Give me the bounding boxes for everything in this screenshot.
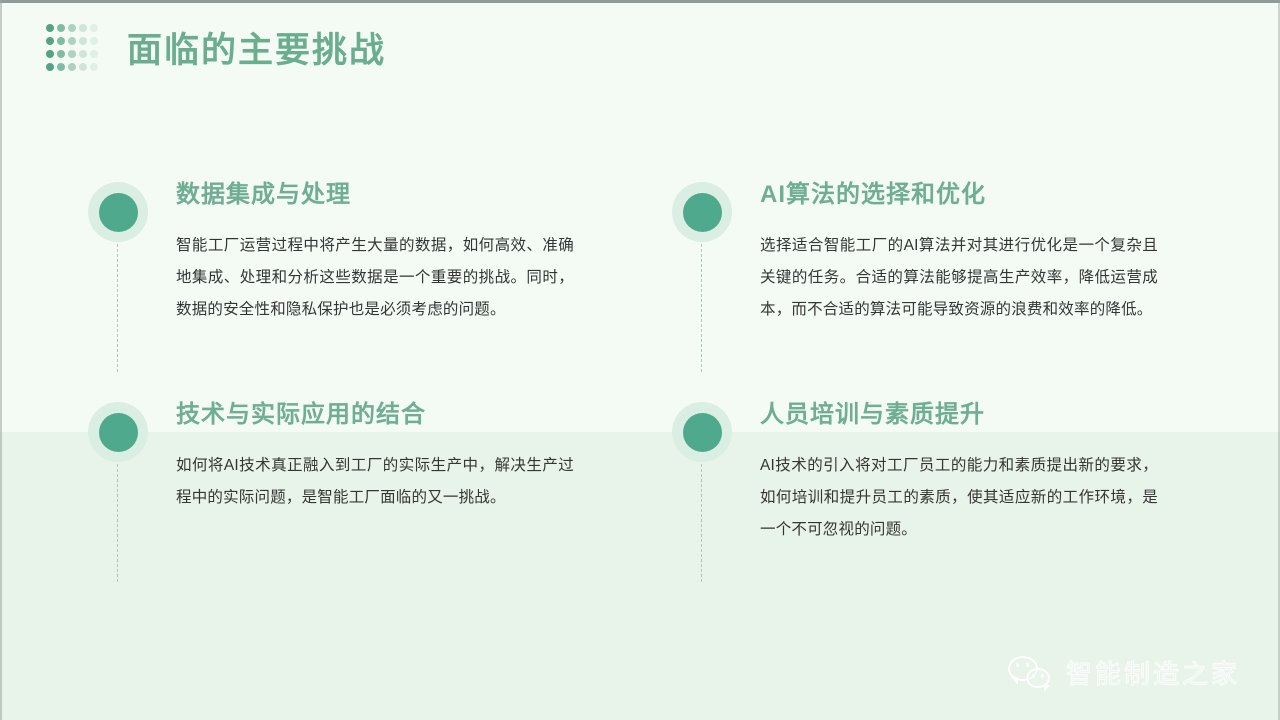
watermark-label: 智能制造之家 xyxy=(1066,661,1240,687)
challenge-text: 如何将AI技术真正融入到工厂的实际生产中，解决生产过程中的实际问题，是智能工厂面… xyxy=(176,450,574,514)
challenge-card-body: 数据集成与处理智能工厂运营过程中将产生大量的数据，如何高效、准确地集成、处理和分… xyxy=(176,182,588,326)
challenge-card-body: 人员培训与素质提升AI技术的引入将对工厂员工的能力和素质提出新的要求，如何培训和… xyxy=(760,402,1172,546)
challenge-card-grid: 数据集成与处理智能工厂运营过程中将产生大量的数据，如何高效、准确地集成、处理和分… xyxy=(0,0,1280,720)
watermark: 智能制造之家 xyxy=(1008,656,1240,692)
challenge-card-body: 技术与实际应用的结合如何将AI技术真正融入到工厂的实际生产中，解决生产过程中的实… xyxy=(176,402,588,514)
challenge-card: 人员培训与素质提升AI技术的引入将对工厂员工的能力和素质提出新的要求，如何培训和… xyxy=(672,402,1172,546)
challenge-title: AI算法的选择和优化 xyxy=(760,182,1172,208)
challenge-card-body: AI算法的选择和优化选择适合智能工厂的AI算法并对其进行优化是一个复杂且关键的任… xyxy=(760,182,1172,326)
challenge-title: 数据集成与处理 xyxy=(176,182,588,208)
wechat-icon xyxy=(1008,656,1054,692)
dashed-connector xyxy=(701,464,702,582)
challenge-card: AI算法的选择和优化选择适合智能工厂的AI算法并对其进行优化是一个复杂且关键的任… xyxy=(672,182,1172,326)
slide-canvas: 面临的主要挑战 数据集成与处理智能工厂运营过程中将产生大量的数据，如何高效、准确… xyxy=(0,0,1280,720)
bullet-marker-icon xyxy=(672,182,732,242)
dashed-connector xyxy=(117,464,118,582)
dashed-connector xyxy=(117,244,118,372)
challenge-title: 人员培训与素质提升 xyxy=(760,402,1172,428)
challenge-text: AI技术的引入将对工厂员工的能力和素质提出新的要求，如何培训和提升员工的素质，使… xyxy=(760,450,1158,545)
dashed-connector xyxy=(701,244,702,372)
bullet-marker-icon xyxy=(672,402,732,462)
challenge-text: 智能工厂运营过程中将产生大量的数据，如何高效、准确地集成、处理和分析这些数据是一… xyxy=(176,230,574,325)
challenge-card: 数据集成与处理智能工厂运营过程中将产生大量的数据，如何高效、准确地集成、处理和分… xyxy=(88,182,588,326)
challenge-text: 选择适合智能工厂的AI算法并对其进行优化是一个复杂且关键的任务。合适的算法能够提… xyxy=(760,230,1158,325)
challenge-title: 技术与实际应用的结合 xyxy=(176,402,588,428)
bullet-marker-icon xyxy=(88,182,148,242)
challenge-card: 技术与实际应用的结合如何将AI技术真正融入到工厂的实际生产中，解决生产过程中的实… xyxy=(88,402,588,514)
bullet-marker-icon xyxy=(88,402,148,462)
